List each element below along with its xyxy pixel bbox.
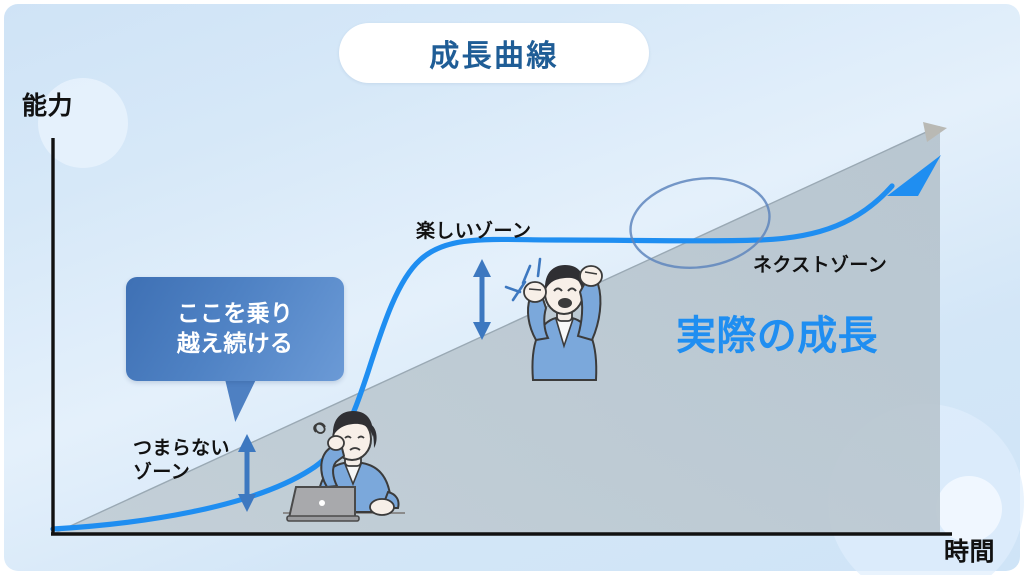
callout-line2: 越え続ける <box>177 329 293 359</box>
gap-arrow-fun-zone <box>473 259 491 340</box>
callout-line1: ここを乗り <box>177 299 293 329</box>
diagram-title-pill: 成長曲線 <box>339 23 649 83</box>
diagram-canvas: 成長曲線 能力 時間 つまらない ゾーン 楽しいゾーン ネクストゾーン 実際の成… <box>0 0 1024 575</box>
zone-label-boring: つまらない ゾーン <box>133 437 230 484</box>
series-label-actual-growth: 実際の成長 <box>676 303 878 361</box>
zone-label-fun: 楽しいゾーン <box>416 216 531 243</box>
callout-text: ここを乗り 越え続ける <box>177 299 293 359</box>
zone-label-boring-line1: つまらない <box>133 437 230 461</box>
page-title: 成長曲線 <box>429 31 559 75</box>
x-axis-label: 時間 <box>944 532 995 568</box>
callout-balloon: ここを乗り 越え続ける <box>126 277 344 381</box>
zone-label-next: ネクストゾーン <box>753 250 887 277</box>
zone-label-boring-line2: ゾーン <box>133 461 230 485</box>
y-axis-label: 能力 <box>22 86 73 122</box>
celebrating-person-icon <box>524 265 602 380</box>
